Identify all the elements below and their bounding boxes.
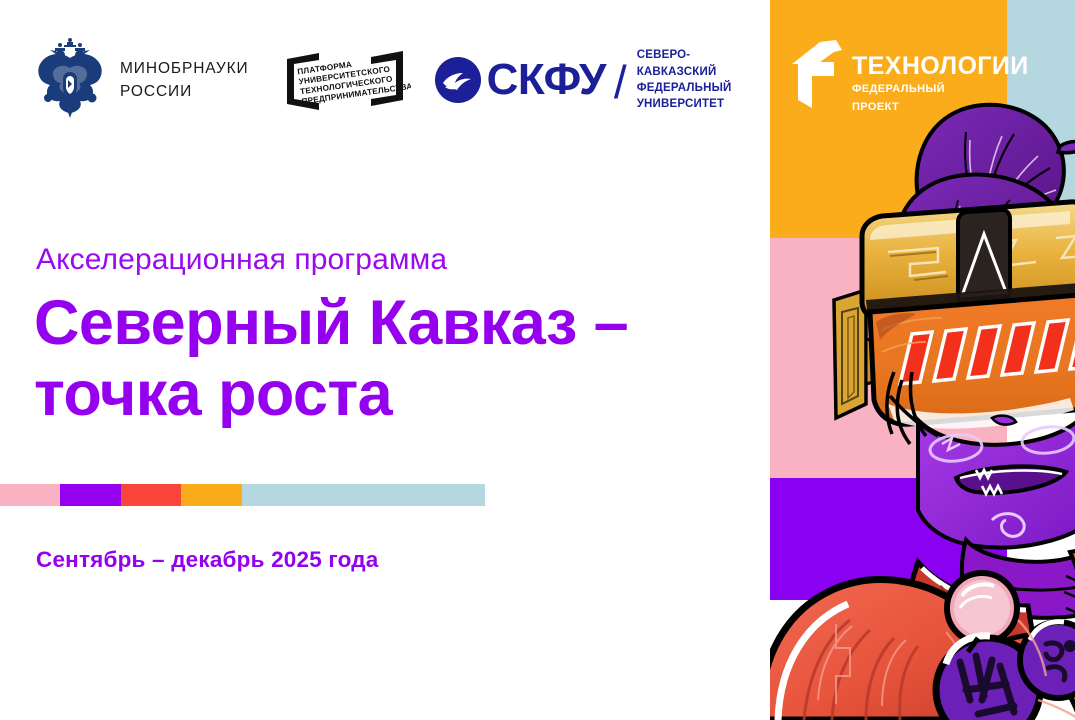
federal-project-arrow-icon	[790, 38, 846, 108]
color-bar-segment-light-blue	[242, 484, 485, 506]
bracket-frame-icon: ПЛАТФОРМА УНИВЕРСИТЕТСКОГО ТЕХНОЛОГИЧЕСК…	[279, 41, 411, 119]
university-abbr: СКФУ	[487, 58, 606, 102]
accent-color-bar	[0, 484, 485, 506]
ministry-name: МИНОБРНАУКИ РОССИИ	[120, 57, 249, 104]
presentation-slide: МИНОБРНАУКИ РОССИИ ПЛАТФОРМА УНИВЕРСИТЕТ…	[0, 0, 1075, 720]
illustration-panel: ТЕХНОЛОГИИ ФЕДЕРАЛЬНЫЙ ПРОЕКТ	[770, 0, 1075, 720]
logo-separator: /	[614, 59, 627, 105]
university-logo: СКФУ / СЕВЕРО-КАВКАЗСКИЙ ФЕДЕРАЛЬНЫЙ УНИ…	[435, 47, 770, 112]
page-title: Северный Кавказ – точка роста	[34, 288, 724, 429]
logo-bar: МИНОБРНАУКИ РОССИИ ПЛАТФОРМА УНИВЕРСИТЕТ…	[0, 0, 770, 160]
federal-project-subtitle: ФЕДЕРАЛЬНЫЙ ПРОЕКТ	[852, 83, 945, 113]
program-eyebrow: Акселерационная программа	[36, 243, 447, 277]
program-dates: Сентябрь – декабрь 2025 года	[36, 547, 379, 573]
color-bar-segment-purple	[60, 484, 121, 506]
federal-project-logo: ТЕХНОЛОГИИ ФЕДЕРАЛЬНЫЙ ПРОЕКТ	[790, 38, 1075, 115]
title-line-1: Северный Кавказ –	[34, 288, 724, 359]
federal-project-title: ТЕХНОЛОГИИ	[852, 52, 1029, 80]
skfu-bird-icon	[435, 57, 481, 103]
color-bar-segment-pink	[0, 484, 60, 506]
color-bar-segment-orange	[181, 484, 242, 506]
federal-project-text: ТЕХНОЛОГИИ ФЕДЕРАЛЬНЫЙ ПРОЕКТ	[852, 38, 1075, 115]
ministry-logo: МИНОБРНАУКИ РОССИИ	[34, 38, 249, 122]
university-full-name: СЕВЕРО-КАВКАЗСКИЙ ФЕДЕРАЛЬНЫЙ УНИВЕРСИТЕ…	[637, 47, 770, 112]
color-bar-segment-red	[121, 484, 181, 506]
title-line-2: точка роста	[34, 359, 724, 430]
platform-logo: ПЛАТФОРМА УНИВЕРСИТЕТСКОГО ТЕХНОЛОГИЧЕСК…	[279, 41, 411, 119]
russian-coat-of-arms-icon	[34, 38, 106, 122]
